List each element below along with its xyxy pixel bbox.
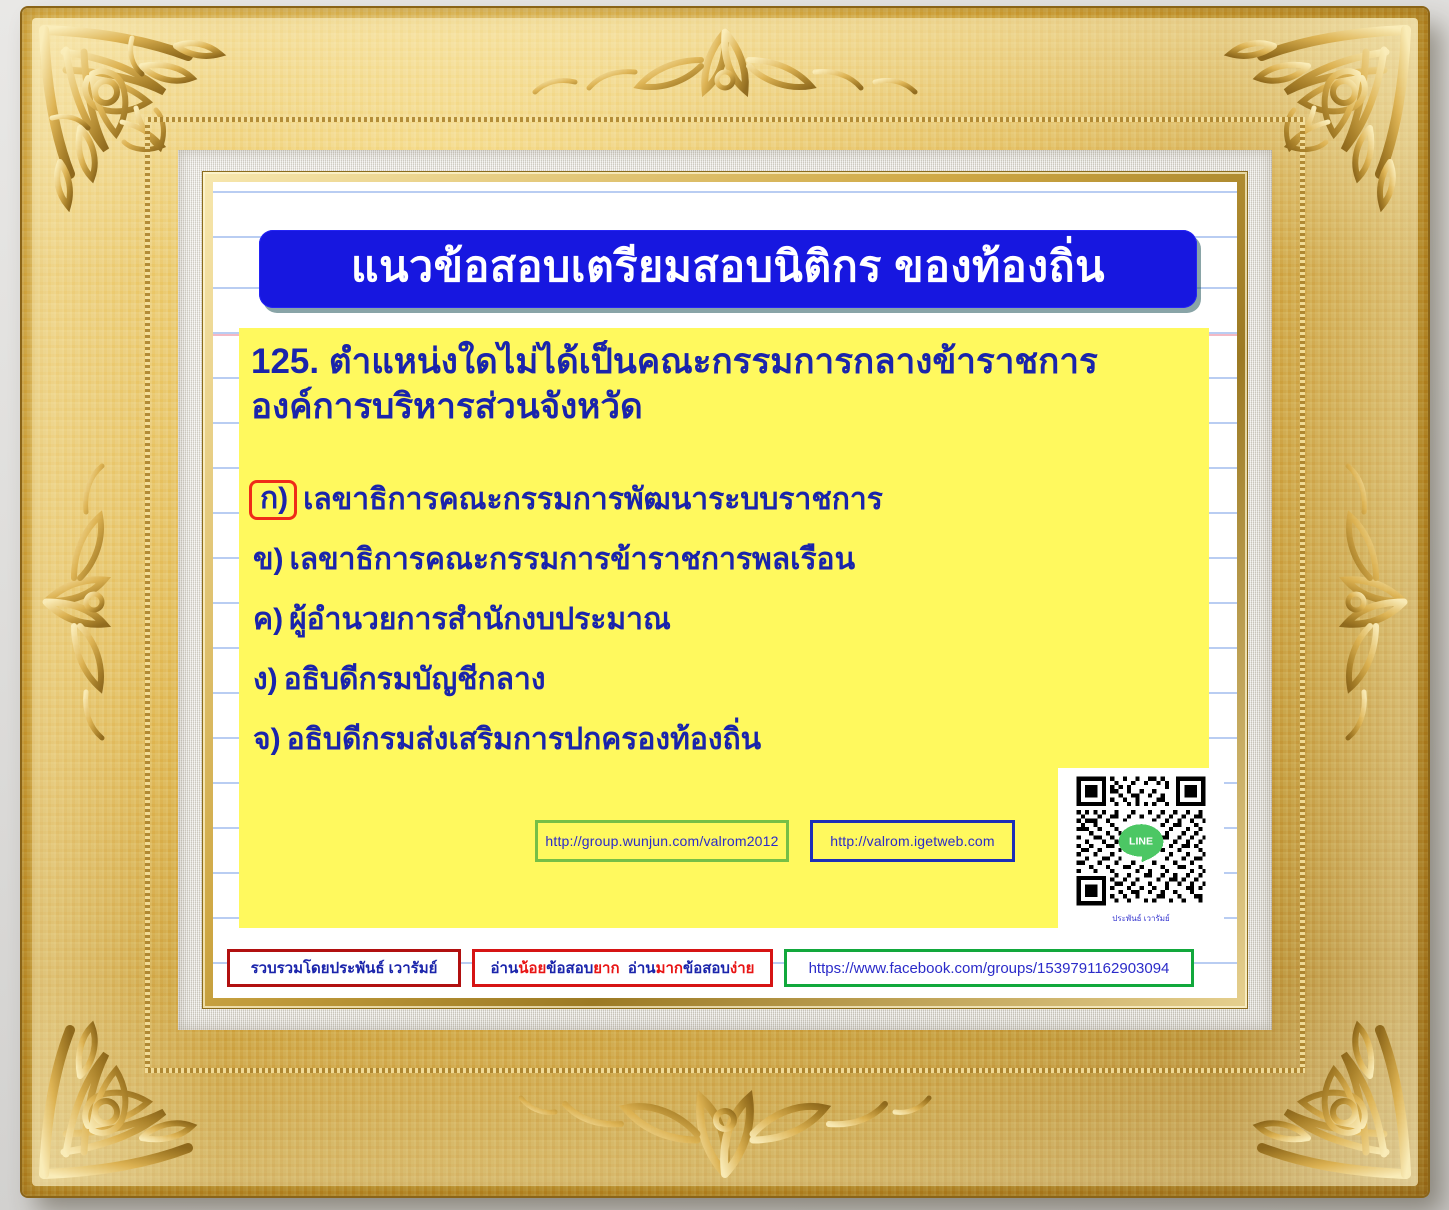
choice-label: ข): [253, 536, 284, 583]
choice-option-kho[interactable]: ข) เลขาธิการคณะกรรมการข้าราชการพลเรือน: [253, 536, 855, 583]
choice-label: ค): [253, 596, 283, 643]
slogan-part: ข้อสอบ: [546, 960, 593, 977]
qr-caption: ประพันธ์ เวารัมย์: [1112, 912, 1170, 925]
line-qr-code-block[interactable]: LINE ประพันธ์ เวารัมย์: [1058, 768, 1224, 934]
choice-option-ka[interactable]: ก) เลขาธิการคณะกรรมการพัฒนาระบบราชการ: [249, 476, 883, 523]
footer-strip: รวบรวมโดยประพันธ์ เวารัมย์ อ่านน้อยข้อสอ…: [227, 948, 1223, 988]
slogan-box: อ่านน้อยข้อสอบยาก อ่านมากข้อสอบง่าย: [472, 949, 773, 987]
svg-text:LINE: LINE: [1129, 836, 1153, 848]
wunjun-group-url-text: http://group.wunjun.com/valrom2012: [545, 833, 778, 849]
slogan-text: อ่านน้อยข้อสอบยาก อ่านมากข้อสอบง่าย: [491, 956, 755, 980]
choice-option-kho-khwai[interactable]: ค) ผู้อำนวยการสำนักงบประมาณ: [253, 596, 671, 643]
choice-text: เลขาธิการคณะกรรมการข้าราชการพลเรือน: [290, 536, 856, 583]
facebook-url-text: https://www.facebook.com/groups/15397911…: [809, 960, 1170, 977]
choice-text: อธิบดีกรมบัญชีกลาง: [284, 656, 546, 703]
slogan-part: ข้อสอบ: [683, 960, 730, 977]
wunjun-group-url-chip[interactable]: http://group.wunjun.com/valrom2012: [535, 820, 789, 862]
choice-option-ngo[interactable]: ง) อธิบดีกรมบัญชีกลาง: [253, 656, 546, 703]
slide-canvas: แนวข้อสอบเตรียมสอบนิติกร ของท้องถิ่น 125…: [213, 182, 1237, 998]
slogan-part: มาก: [656, 960, 683, 977]
igetweb-url-chip[interactable]: http://valrom.igetweb.com: [810, 820, 1015, 862]
credit-text: รวบรวมโดยประพันธ์ เวารัมย์: [251, 956, 438, 980]
frame-edge-ornament-bottom: [515, 1074, 935, 1184]
choice-label: ง): [253, 656, 278, 703]
choice-text: อธิบดีกรมส่งเสริมการปกครองท้องถิ่น: [287, 716, 762, 763]
page-title: แนวข้อสอบเตรียมสอบนิติกร ของท้องถิ่น: [351, 246, 1105, 293]
choice-label: จ): [253, 716, 281, 763]
choice-label: ก): [249, 480, 297, 520]
question-text: 125. ตำแหน่งใดไม่ได้เป็นคณะกรรมการกลางข้…: [251, 340, 1195, 430]
choice-option-cho[interactable]: จ) อธิบดีกรมส่งเสริมการปกครองท้องถิ่น: [253, 716, 761, 763]
frame-edge-ornament-left: [34, 422, 126, 782]
frame-edge-ornament-right: [1324, 422, 1416, 782]
slogan-part: ยาก: [593, 960, 619, 977]
slogan-part: น้อย: [518, 960, 546, 977]
slogan-part: อ่าน: [620, 960, 656, 977]
slogan-part: อ่าน: [491, 960, 519, 977]
frame-edge-ornament-top: [515, 20, 935, 112]
qr-code-image: LINE: [1066, 771, 1216, 911]
facebook-url-box[interactable]: https://www.facebook.com/groups/15397911…: [784, 949, 1194, 987]
credit-box: รวบรวมโดยประพันธ์ เวารัมย์: [227, 949, 461, 987]
igetweb-url-text: http://valrom.igetweb.com: [830, 833, 995, 849]
choice-text: เลขาธิการคณะกรรมการพัฒนาระบบราชการ: [303, 476, 883, 523]
choice-text: ผู้อำนวยการสำนักงบประมาณ: [289, 596, 671, 643]
title-banner: แนวข้อสอบเตรียมสอบนิติกร ของท้องถิ่น: [259, 230, 1197, 308]
slogan-part: ง่าย: [730, 960, 755, 977]
